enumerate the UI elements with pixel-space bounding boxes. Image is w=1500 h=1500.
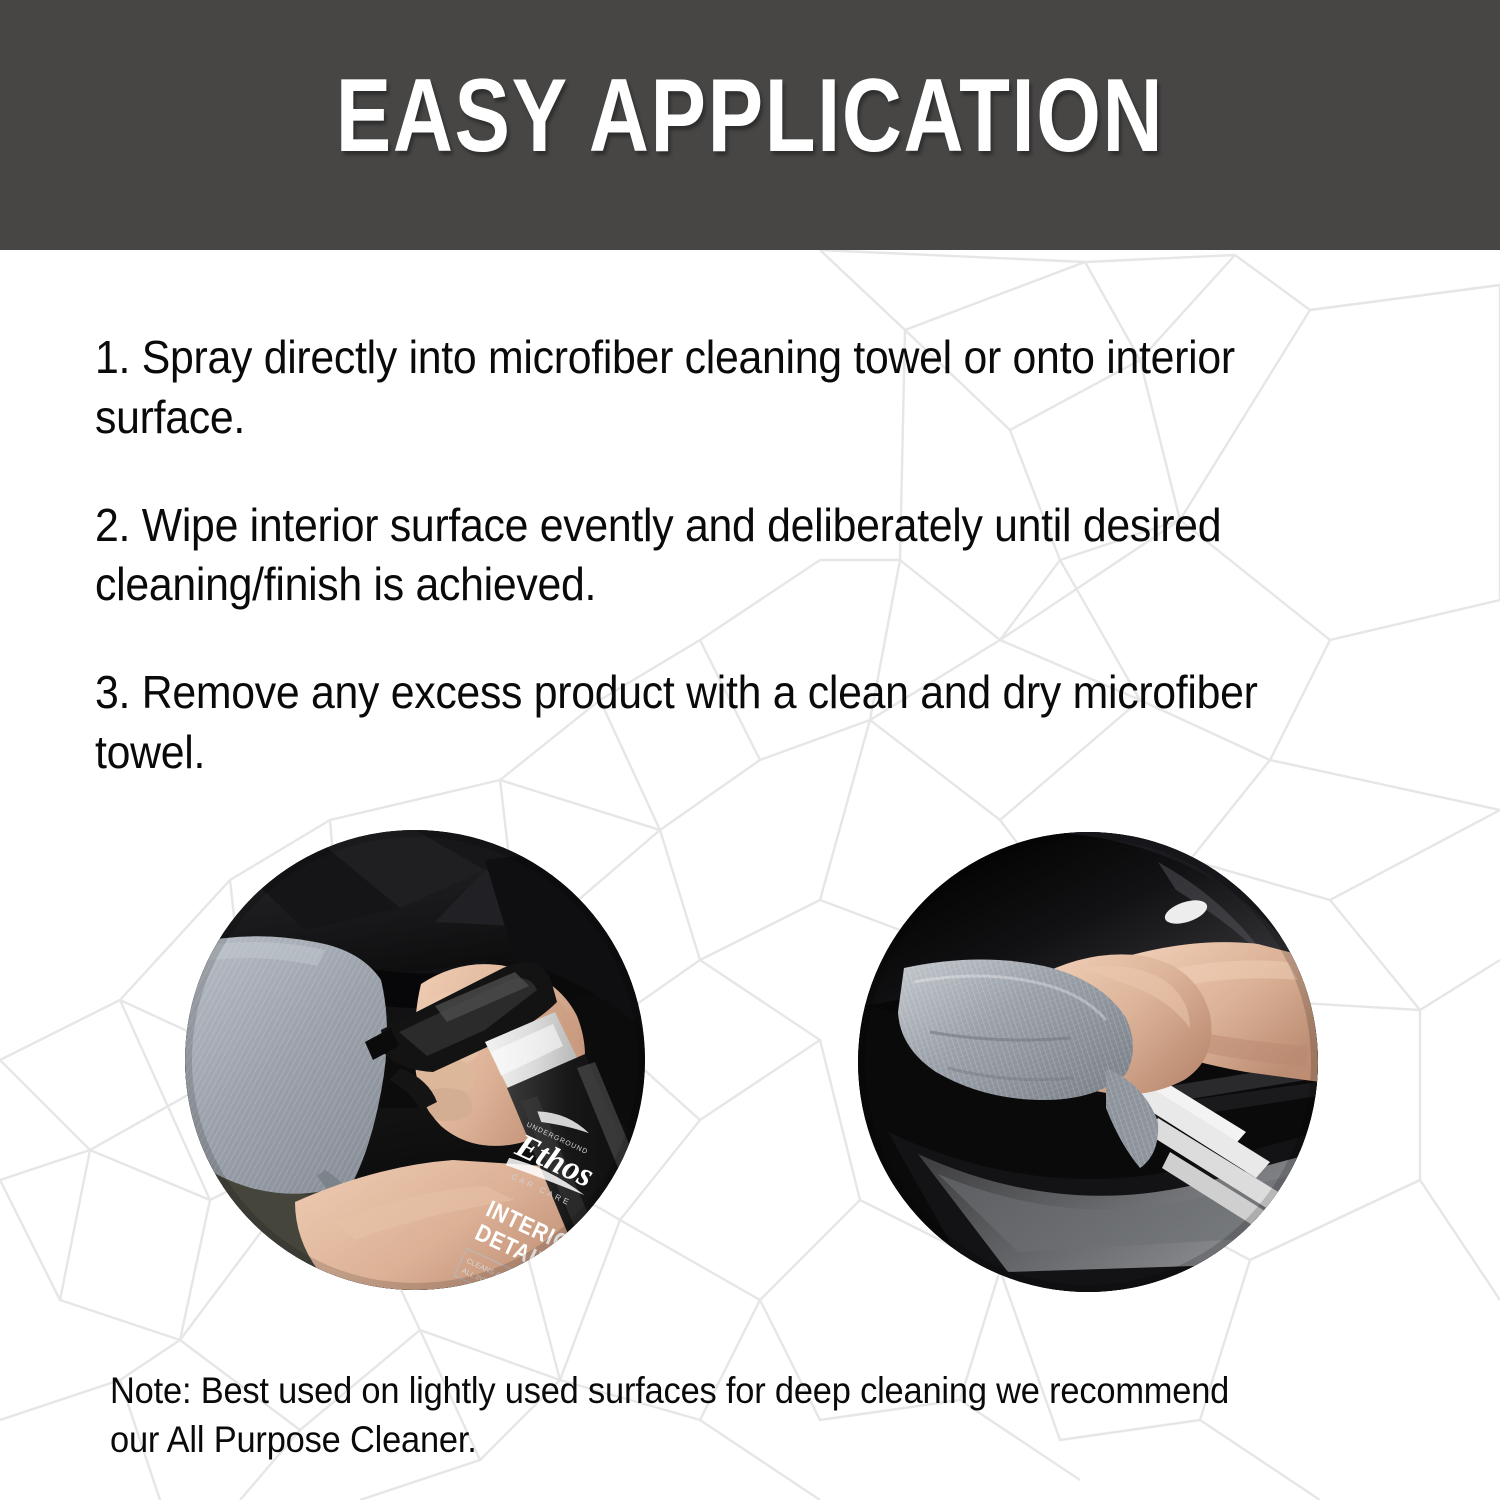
page-title: EASY APPLICATION <box>150 62 1350 171</box>
step-item-2: 2. Wipe interior surface evently and del… <box>95 496 1323 616</box>
step-item-1: 1. Spray directly into microfiber cleani… <box>95 328 1323 448</box>
note-text: Note: Best used on lightly used surfaces… <box>110 1367 1273 1465</box>
wipe-photo-illustration <box>858 832 1318 1292</box>
infographic-page: EASY APPLICATION 1. Spray directly into … <box>0 0 1500 1500</box>
spray-photo: UNDERGROUND Ethos CAR CARE INTERIOR DETA… <box>185 830 645 1290</box>
step-item-3: 3. Remove any excess product with a clea… <box>95 663 1323 783</box>
header-bar: EASY APPLICATION <box>0 0 1500 250</box>
steps-list: 1. Spray directly into microfiber cleani… <box>95 282 1415 783</box>
wipe-photo <box>858 832 1318 1292</box>
spray-photo-illustration: UNDERGROUND Ethos CAR CARE INTERIOR DETA… <box>185 830 645 1290</box>
